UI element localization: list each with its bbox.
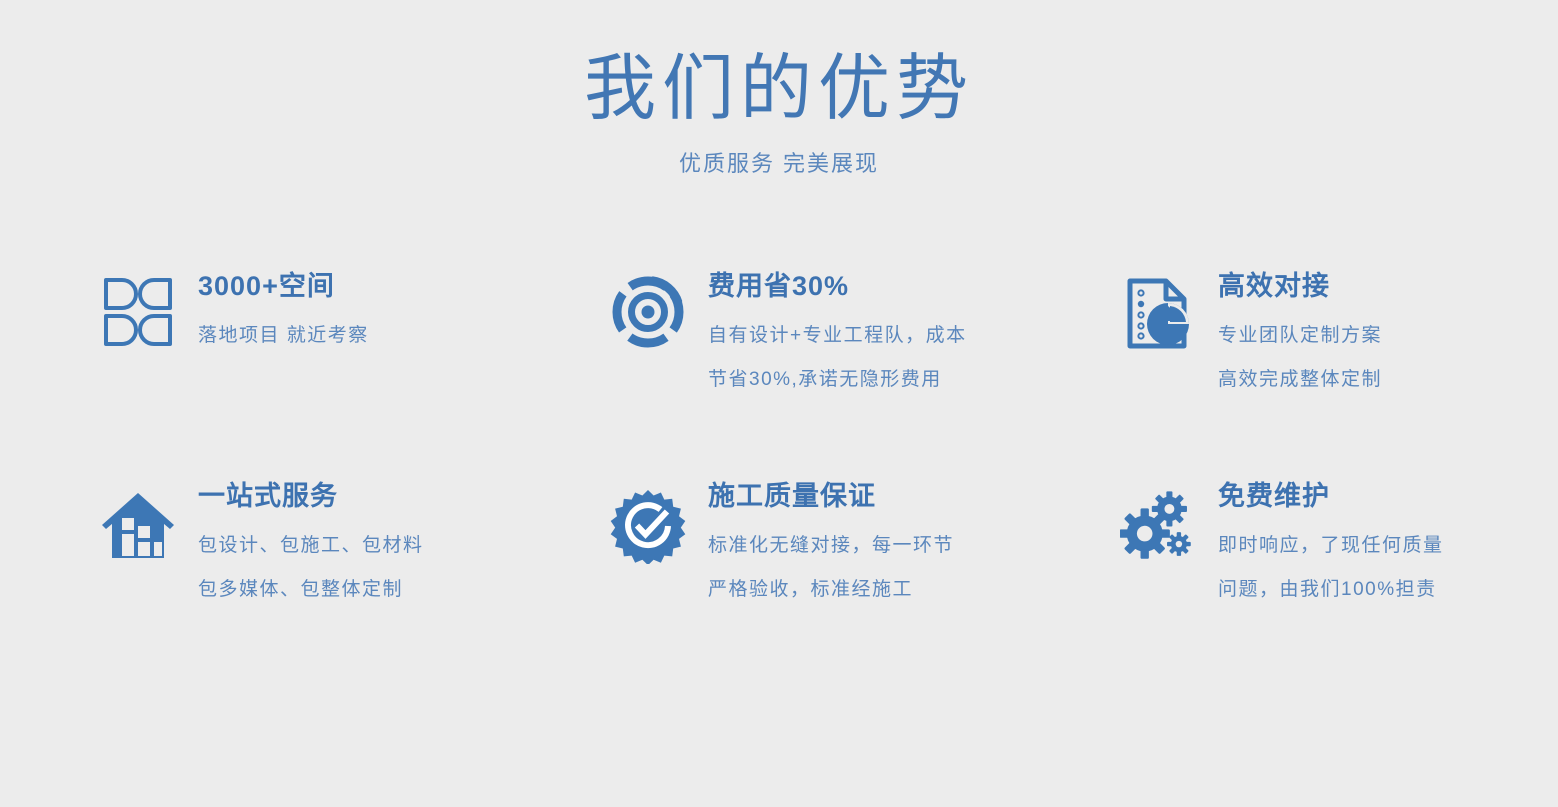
feature-line: 包多媒体、包整体定制 <box>198 580 610 599</box>
feature-item-free-maintenance: 免费维护 即时响应，了现任何质量 问题，由我们100%担责 <box>1120 482 1500 692</box>
feature-description: 专业团队定制方案 高效完成整体定制 <box>1218 326 1500 389</box>
four-petal-icon <box>100 272 176 352</box>
feature-line: 节省30%,承诺无隐形费用 <box>708 370 1120 389</box>
feature-body: 免费维护 即时响应，了现任何质量 问题，由我们100%担责 <box>1218 482 1500 599</box>
feature-body: 高效对接 专业团队定制方案 高效完成整体定制 <box>1218 272 1500 389</box>
feature-line: 高效完成整体定制 <box>1218 370 1500 389</box>
target-icon <box>610 272 686 352</box>
feature-description: 即时响应，了现任何质量 问题，由我们100%担责 <box>1218 536 1500 599</box>
page-header: 我们的优势 优质服务 完美展现 <box>0 0 1558 178</box>
feature-body: 施工质量保证 标准化无缝对接，每一环节 严格验收，标准经施工 <box>708 482 1120 599</box>
feature-item-efficient-delivery: 高效对接 专业团队定制方案 高效完成整体定制 <box>1120 272 1500 482</box>
feature-body: 一站式服务 包设计、包施工、包材料 包多媒体、包整体定制 <box>198 482 610 599</box>
feature-description: 自有设计+专业工程队，成本 节省30%,承诺无隐形费用 <box>708 326 1120 389</box>
feature-title: 3000+空间 <box>198 272 610 302</box>
feature-body: 3000+空间 落地项目 就近考察 <box>198 272 610 345</box>
document-chart-icon <box>1120 272 1196 352</box>
quality-badge-check-icon <box>610 482 686 562</box>
feature-line: 问题，由我们100%担责 <box>1218 580 1500 599</box>
house-icon <box>100 482 176 562</box>
page-title: 我们的优势 <box>0 52 1558 128</box>
feature-item-space: 3000+空间 落地项目 就近考察 <box>100 272 610 482</box>
feature-item-one-stop-service: 一站式服务 包设计、包施工、包材料 包多媒体、包整体定制 <box>100 482 610 692</box>
feature-line: 标准化无缝对接，每一环节 <box>708 536 1120 555</box>
feature-line: 落地项目 就近考察 <box>198 326 610 345</box>
feature-title: 一站式服务 <box>198 482 610 512</box>
feature-title: 高效对接 <box>1218 272 1500 302</box>
feature-item-quality-guarantee: 施工质量保证 标准化无缝对接，每一环节 严格验收，标准经施工 <box>610 482 1120 692</box>
feature-description: 包设计、包施工、包材料 包多媒体、包整体定制 <box>198 536 610 599</box>
feature-title: 施工质量保证 <box>708 482 1120 512</box>
feature-description: 落地项目 就近考察 <box>198 326 610 345</box>
feature-grid: 3000+空间 落地项目 就近考察 费用省30% 自有设计+ <box>100 272 1500 692</box>
feature-item-cost-saving: 费用省30% 自有设计+专业工程队，成本 节省30%,承诺无隐形费用 <box>610 272 1120 482</box>
feature-line: 即时响应，了现任何质量 <box>1218 536 1500 555</box>
feature-title: 费用省30% <box>708 272 1120 302</box>
feature-line: 自有设计+专业工程队，成本 <box>708 326 1120 345</box>
feature-line: 专业团队定制方案 <box>1218 326 1500 345</box>
feature-description: 标准化无缝对接，每一环节 严格验收，标准经施工 <box>708 536 1120 599</box>
feature-title: 免费维护 <box>1218 482 1500 512</box>
feature-body: 费用省30% 自有设计+专业工程队，成本 节省30%,承诺无隐形费用 <box>708 272 1120 389</box>
page-subtitle: 优质服务 完美展现 <box>0 146 1558 178</box>
gears-icon <box>1120 482 1196 562</box>
feature-line: 严格验收，标准经施工 <box>708 580 1120 599</box>
feature-line: 包设计、包施工、包材料 <box>198 536 610 555</box>
